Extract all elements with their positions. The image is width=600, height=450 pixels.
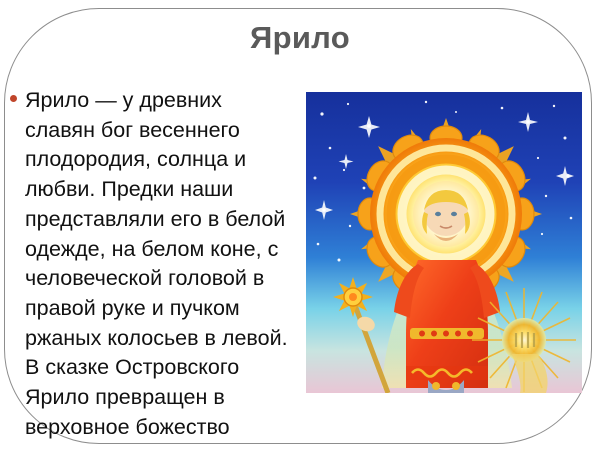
content-text-block: Ярило — у древних славян бог весеннего п…	[8, 86, 290, 448]
yarilo-illustration-svg	[306, 92, 582, 393]
bullet-dot-icon	[10, 95, 17, 102]
slide-canvas: Ярило Ярило — у древних славян бог весен…	[0, 0, 600, 450]
page-title: Ярило	[0, 22, 600, 53]
figure-body	[394, 260, 500, 393]
frame-bottom-mask	[0, 444, 600, 450]
body-paragraph: Ярило — у древних славян бог весеннего п…	[25, 86, 290, 442]
yarilo-illustration	[306, 92, 582, 393]
bullet-list-item: Ярило — у древних славян бог весеннего п…	[8, 86, 290, 442]
